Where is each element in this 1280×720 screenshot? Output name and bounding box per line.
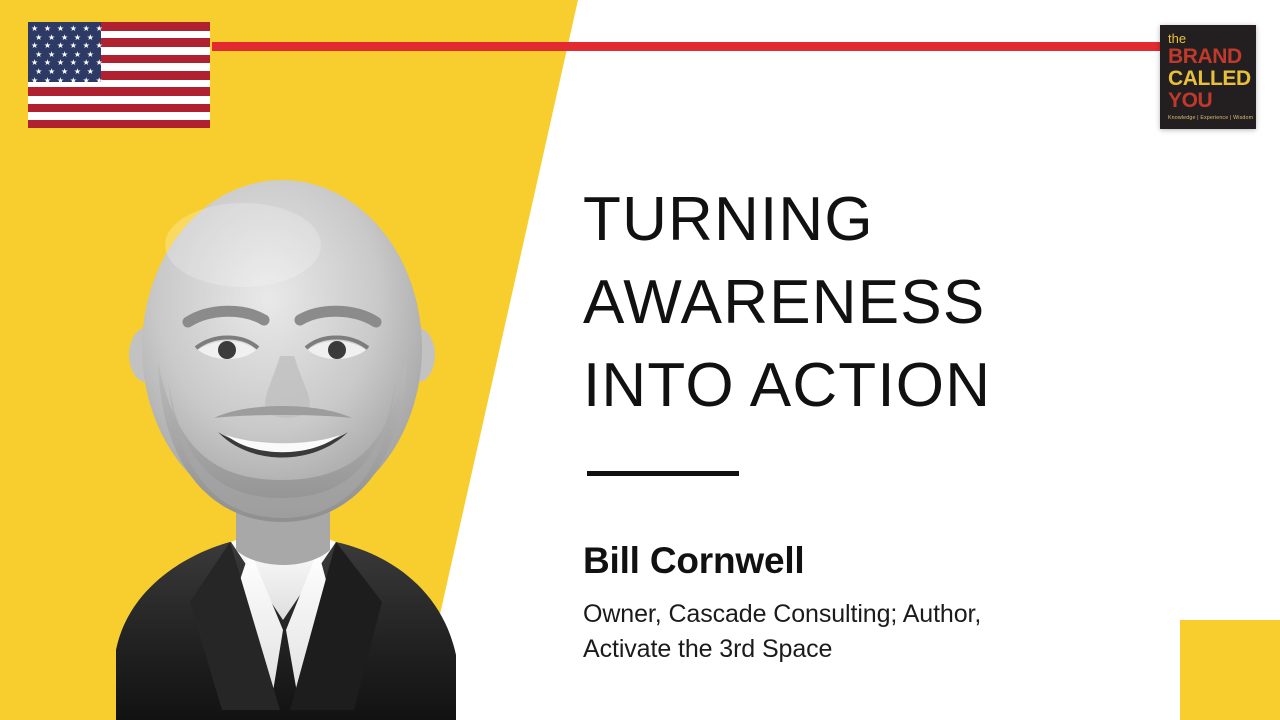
- logo-line-the: the: [1168, 32, 1250, 46]
- title-divider: [587, 471, 739, 476]
- speaker-name: Bill Cornwell: [583, 540, 1143, 583]
- brand-called-you-logo[interactable]: the BRAND CALLED YOU Knowledge | Experie…: [1160, 25, 1256, 129]
- us-flag-icon: ★ ★ ★ ★ ★ ★ ★ ★ ★ ★ ★ ★ ★ ★ ★ ★ ★ ★ ★ ★ …: [28, 22, 210, 128]
- slide-text-column: TURNING AWARENESS INTO ACTION Bill Cornw…: [583, 178, 1143, 668]
- slide-canvas: ★ ★ ★ ★ ★ ★ ★ ★ ★ ★ ★ ★ ★ ★ ★ ★ ★ ★ ★ ★ …: [0, 0, 1280, 720]
- flag-stars: ★ ★ ★ ★ ★ ★ ★ ★ ★ ★ ★ ★ ★ ★ ★ ★ ★ ★ ★ ★ …: [28, 22, 101, 82]
- red-accent-rule: [212, 42, 1160, 51]
- logo-tagline: Knowledge | Experience | Wisdom: [1168, 115, 1250, 121]
- speaker-role: Owner, Cascade Consulting; Author, Activ…: [583, 597, 1083, 668]
- logo-line-you: YOU: [1168, 90, 1250, 112]
- logo-line-brand: BRAND: [1168, 46, 1250, 68]
- corner-accent-block: [1180, 620, 1280, 720]
- page-title: TURNING AWARENESS INTO ACTION: [583, 178, 1143, 427]
- speaker-portrait-image: [18, 150, 546, 720]
- logo-line-called: CALLED: [1168, 68, 1250, 90]
- flag-canton: ★ ★ ★ ★ ★ ★ ★ ★ ★ ★ ★ ★ ★ ★ ★ ★ ★ ★ ★ ★ …: [28, 22, 101, 82]
